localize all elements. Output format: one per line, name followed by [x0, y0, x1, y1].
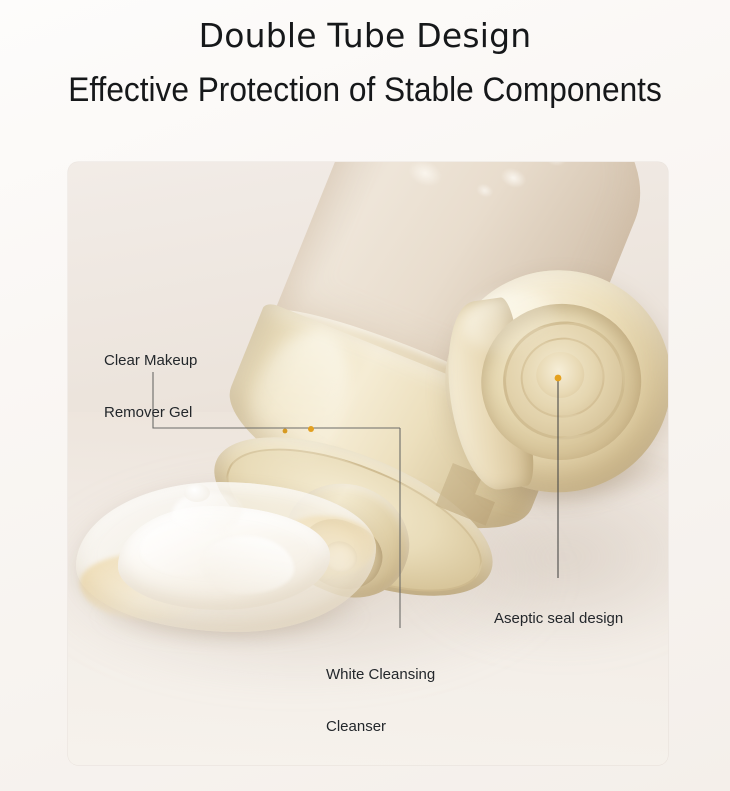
product-swatch — [76, 462, 386, 642]
product-cap — [431, 255, 668, 520]
callout-white-cleansing-cleanser: White Cleansing Cleanser — [326, 636, 435, 766]
callout-cream-line-1: White Cleansing — [326, 662, 435, 688]
infographic-page: Double Tube Design Effective Protection … — [0, 0, 730, 791]
heading-block: Double Tube Design Effective Protection … — [0, 0, 730, 130]
gel-bubble — [184, 484, 210, 502]
callout-aseptic-seal-design: Aseptic seal design — [494, 580, 623, 658]
page-subtitle: Effective Protection of Stable Component… — [26, 68, 705, 112]
callout-gel-line-2: Remover Gel — [104, 400, 197, 426]
callout-clear-makeup-remover-gel: Clear Makeup Remover Gel — [104, 322, 197, 452]
callout-aseptic-line-1: Aseptic seal design — [494, 606, 623, 632]
callout-gel-line-1: Clear Makeup — [104, 348, 197, 374]
page-title: Double Tube Design — [0, 16, 730, 56]
callout-cream-line-2: Cleanser — [326, 714, 435, 740]
